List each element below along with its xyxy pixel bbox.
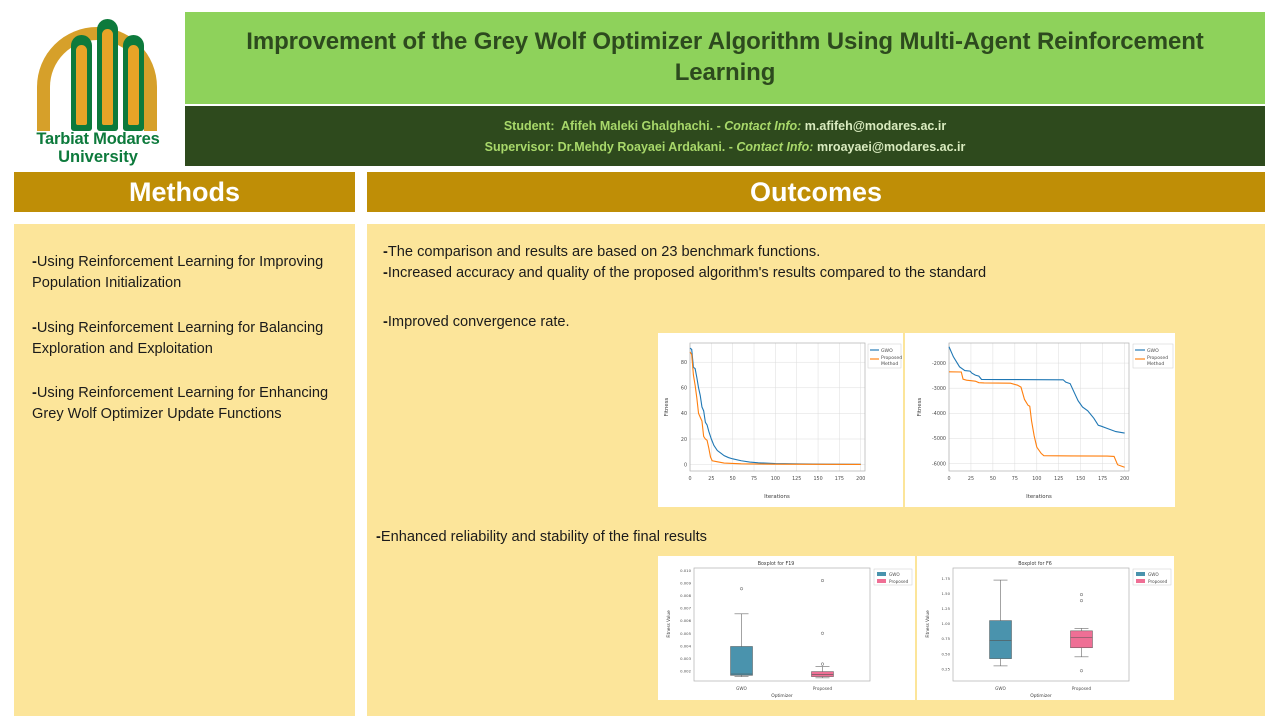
convergence-chart-1: 0255075100125150175200 020406080 Iterati… — [658, 333, 903, 507]
svg-text:1.25: 1.25 — [942, 606, 951, 611]
svg-text:-4000: -4000 — [932, 411, 946, 417]
c1-legend-proposed: Proposed — [881, 355, 902, 361]
methods-bullet-0: Using Reinforcement Learning for Improvi… — [32, 254, 323, 291]
supervisor-contact-label: Contact Info: — [736, 140, 813, 154]
boxplot-f6: Boxplot for F6 0.250.500.751.001.251.501… — [917, 556, 1174, 700]
student-name: Afifeh Maleki Ghalghachi. - — [561, 119, 721, 133]
svg-text:0: 0 — [688, 476, 691, 482]
supervisor-label: Supervisor: — [485, 140, 554, 154]
svg-text:100: 100 — [1032, 476, 1041, 482]
list-item: -Improved convergence rate. — [383, 312, 1265, 333]
svg-text:0.006: 0.006 — [680, 618, 691, 623]
contact-bar: Student: Afifeh Maleki Ghalghachi. - Con… — [185, 106, 1265, 166]
svg-text:Method: Method — [1147, 361, 1164, 367]
boxplot-f6-xlabel: Optimizer — [1030, 693, 1052, 699]
svg-text:200: 200 — [1120, 476, 1129, 482]
boxplot-f19-title: Boxplot for F19 — [758, 561, 795, 567]
boxplot-f6-legend-proposed: Proposed — [1148, 579, 1168, 584]
svg-text:150: 150 — [813, 476, 822, 482]
svg-text:0.009: 0.009 — [680, 581, 691, 586]
boxplot-f19: Boxplot for F19 0.0020.0030.0040.0050.00… — [658, 556, 915, 700]
wheat-blade-center — [97, 19, 118, 131]
c2-ylabel: Fitness — [917, 397, 923, 416]
svg-text:0.005: 0.005 — [680, 631, 691, 636]
c1-legend-gwo: GWO — [881, 348, 893, 354]
student-label: Student: — [504, 119, 555, 133]
svg-text:150: 150 — [1076, 476, 1085, 482]
svg-text:0: 0 — [947, 476, 950, 482]
c1-xlabel: Iterations — [764, 494, 790, 500]
svg-text:1.00: 1.00 — [942, 621, 951, 626]
outcomes-bullet-0: The comparison and results are based on … — [388, 244, 820, 260]
poster-title-bar: Improvement of the Grey Wolf Optimizer A… — [185, 12, 1265, 104]
svg-text:1.50: 1.50 — [942, 591, 951, 596]
svg-text:0.002: 0.002 — [680, 668, 691, 673]
methods-heading: Methods — [129, 177, 240, 208]
student-contact-label: Contact Info: — [724, 119, 801, 133]
supervisor-contact-line: Supervisor: Dr.Mehdy Roayaei Ardakani. -… — [485, 140, 966, 154]
boxplot-f6-svg: Boxplot for F6 0.250.500.751.001.251.501… — [917, 556, 1174, 700]
svg-text:Proposed: Proposed — [1072, 686, 1092, 691]
logo-mark-icon — [23, 13, 173, 131]
outcomes-heading: Outcomes — [750, 177, 882, 208]
supervisor-name: Dr.Mehdy Roayaei Ardakani. - — [558, 140, 733, 154]
svg-text:0.50: 0.50 — [942, 651, 951, 656]
svg-text:125: 125 — [792, 476, 801, 482]
svg-text:0.25: 0.25 — [942, 666, 951, 671]
c2-legend-proposed: Proposed — [1147, 355, 1168, 361]
svg-text:175: 175 — [835, 476, 844, 482]
list-item: -Enhanced reliability and stability of t… — [376, 527, 707, 548]
svg-text:Proposed: Proposed — [813, 686, 833, 691]
c2-legend-gwo: GWO — [1147, 348, 1159, 354]
c1-ylabel: Fitness — [664, 397, 670, 416]
methods-bullet-2: Using Reinforcement Learning for Enhanci… — [32, 385, 328, 422]
list-item: -Using Reinforcement Learning for Improv… — [32, 252, 339, 295]
outcomes-bullet-2: Improved convergence rate. — [388, 314, 570, 330]
svg-text:25: 25 — [968, 476, 974, 482]
list-item: -Increased accuracy and quality of the p… — [383, 263, 1265, 284]
svg-text:0: 0 — [684, 462, 687, 468]
svg-text:0.003: 0.003 — [680, 656, 691, 661]
svg-text:40: 40 — [681, 411, 687, 417]
page-title: Improvement of the Grey Wolf Optimizer A… — [219, 27, 1231, 88]
svg-text:75: 75 — [1012, 476, 1018, 482]
svg-text:0.75: 0.75 — [942, 636, 951, 641]
svg-text:Method: Method — [881, 361, 898, 367]
wheat-blade-right — [123, 35, 144, 131]
poster-root: Tarbiat Modares University Improvement o… — [0, 0, 1280, 720]
svg-text:0.004: 0.004 — [680, 643, 691, 648]
outcomes-bullet-1: Increased accuracy and quality of the pr… — [388, 265, 986, 281]
boxplot-f19-svg: Boxplot for F19 0.0020.0030.0040.0050.00… — [658, 556, 915, 700]
svg-text:50: 50 — [990, 476, 996, 482]
list-item: -Using Reinforcement Learning for Enhanc… — [32, 383, 339, 426]
list-item: -The comparison and results are based on… — [383, 242, 1265, 263]
boxplot-f19-legend-gwo: GWO — [889, 572, 900, 577]
svg-text:1.75: 1.75 — [942, 576, 951, 581]
logo-line-1: Tarbiat Modares — [36, 131, 159, 148]
boxplot-f6-title: Boxplot for F6 — [1018, 561, 1052, 567]
svg-text:0.010: 0.010 — [680, 568, 691, 573]
svg-text:80: 80 — [681, 360, 687, 366]
svg-text:-2000: -2000 — [932, 361, 946, 367]
svg-text:60: 60 — [681, 386, 687, 392]
convergence-chart-2: 0255075100125150175200 -2000-3000-4000-5… — [905, 333, 1175, 507]
boxplot-f19-legend-proposed: Proposed — [889, 579, 909, 584]
student-contact-line: Student: Afifeh Maleki Ghalghachi. - Con… — [504, 119, 946, 133]
section-header-outcomes: Outcomes — [367, 172, 1265, 212]
convergence-chart-2-svg: 0255075100125150175200 -2000-3000-4000-5… — [905, 333, 1175, 507]
section-header-methods: Methods — [14, 172, 355, 212]
logo-line-2: University — [36, 149, 159, 166]
boxplot-f19-ylabel: Fitness Value — [666, 610, 671, 638]
student-email[interactable]: m.afifeh@modares.ac.ir — [805, 119, 946, 133]
svg-text:0.007: 0.007 — [680, 606, 691, 611]
svg-text:50: 50 — [730, 476, 736, 482]
methods-bullet-list: -Using Reinforcement Learning for Improv… — [14, 224, 355, 426]
svg-text:GWO: GWO — [995, 686, 1006, 691]
svg-text:25: 25 — [708, 476, 714, 482]
svg-text:200: 200 — [856, 476, 865, 482]
methods-panel: -Using Reinforcement Learning for Improv… — [14, 224, 355, 716]
svg-text:20: 20 — [681, 437, 687, 443]
svg-text:-3000: -3000 — [932, 386, 946, 392]
logo-text: Tarbiat Modares University — [36, 131, 159, 166]
c2-xlabel: Iterations — [1026, 494, 1052, 500]
boxplot-f6-legend-gwo: GWO — [1148, 572, 1159, 577]
svg-text:100: 100 — [771, 476, 780, 482]
svg-text:-6000: -6000 — [932, 461, 946, 467]
outcomes-bullet-3: Enhanced reliability and stability of th… — [381, 529, 707, 545]
svg-text:125: 125 — [1054, 476, 1063, 482]
university-logo: Tarbiat Modares University — [14, 6, 182, 166]
supervisor-email[interactable]: mroayaei@modares.ac.ir — [817, 140, 965, 154]
wheat-blade-left — [71, 35, 92, 131]
svg-text:0.008: 0.008 — [680, 593, 691, 598]
svg-text:-5000: -5000 — [932, 436, 946, 442]
list-item: -Using Reinforcement Learning for Balanc… — [32, 318, 339, 361]
outcomes-bullet-list: -The comparison and results are based on… — [367, 224, 1265, 333]
convergence-chart-1-svg: 0255075100125150175200 020406080 Iterati… — [658, 333, 903, 507]
svg-text:75: 75 — [751, 476, 757, 482]
boxplot-f6-ylabel: Fitness Value — [925, 610, 930, 638]
svg-text:175: 175 — [1098, 476, 1107, 482]
boxplot-f19-xlabel: Optimizer — [771, 693, 793, 699]
svg-text:GWO: GWO — [736, 686, 747, 691]
methods-bullet-1: Using Reinforcement Learning for Balanci… — [32, 320, 323, 357]
